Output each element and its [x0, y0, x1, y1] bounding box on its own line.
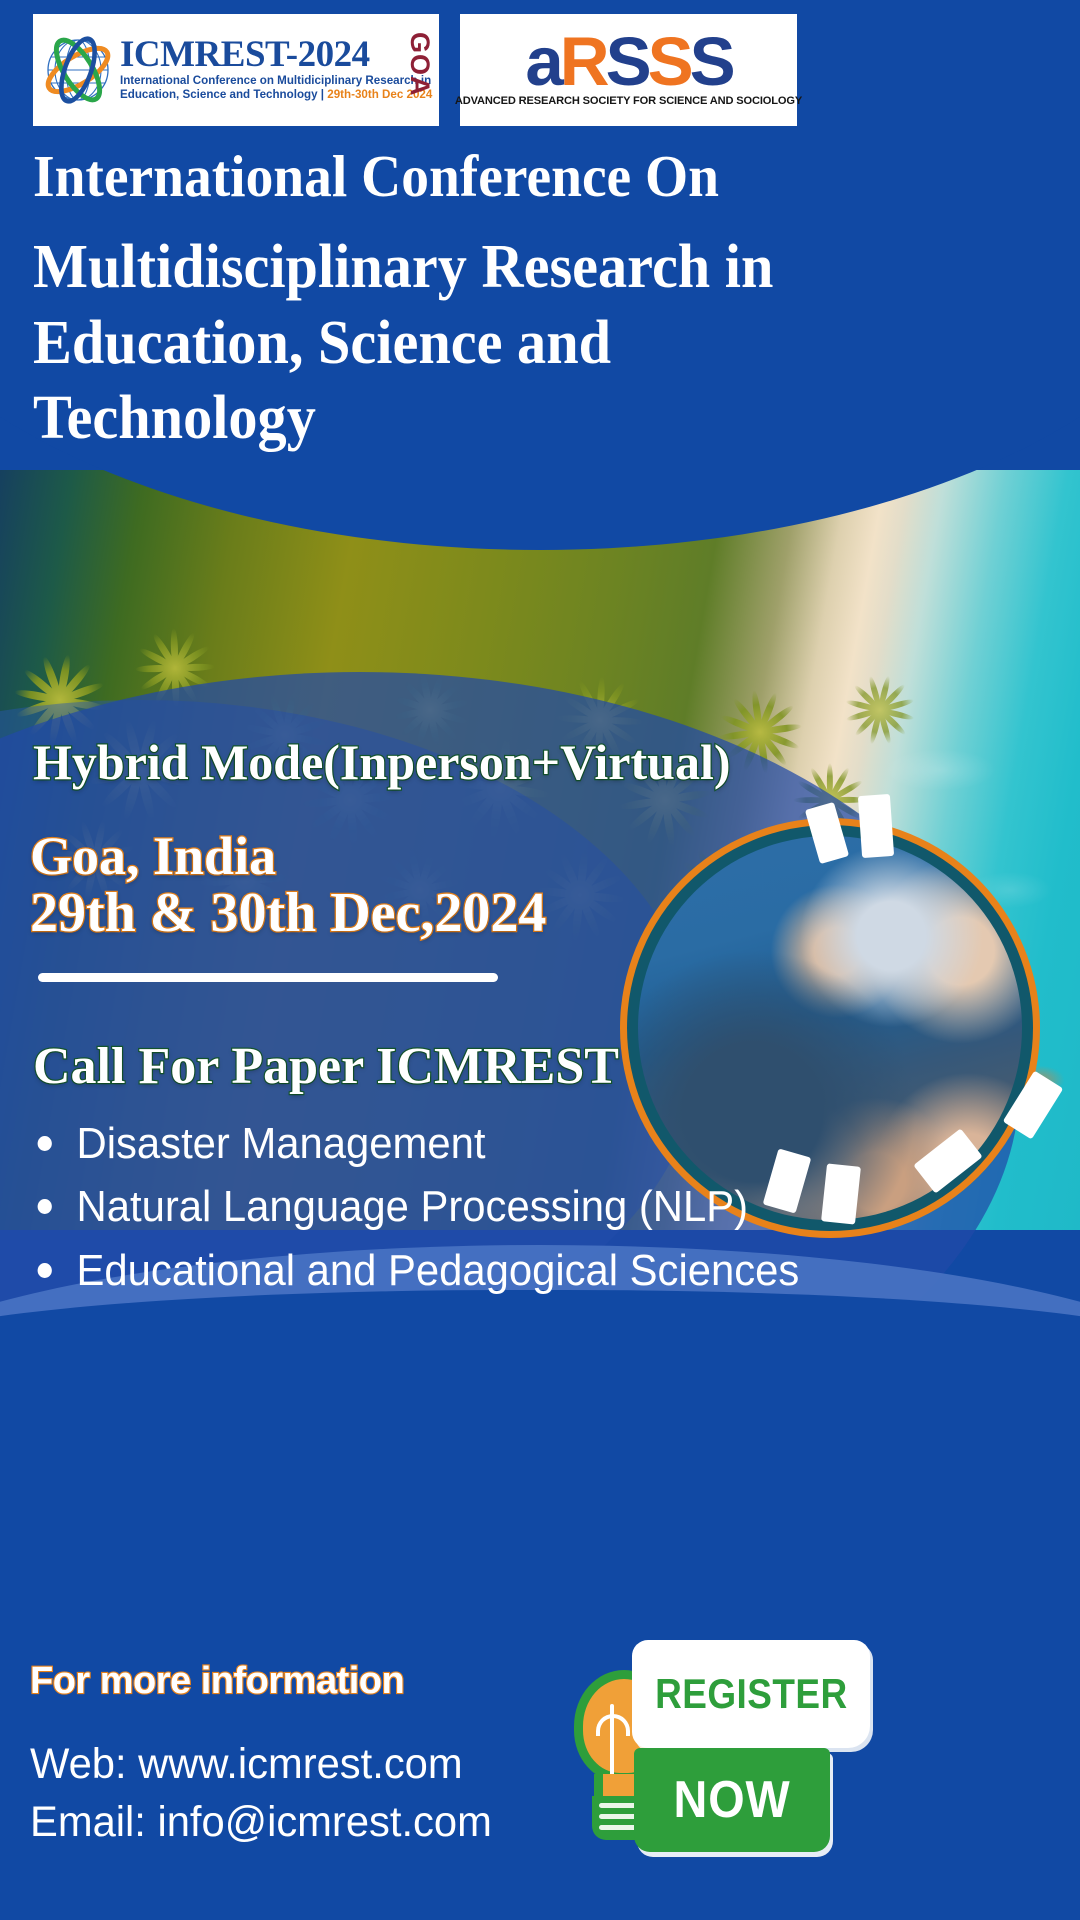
list-item: Educational and Pedagogical Sciences [30, 1239, 847, 1302]
logo-row: ICMREST-2024 International Conference on… [0, 14, 1080, 126]
list-item: Disaster Management [30, 1112, 847, 1175]
now-label: NOW [673, 1770, 790, 1830]
icmrest-subtitle-line2-main: Education, Science and Technology | [120, 88, 327, 101]
bullet-icon [38, 1263, 52, 1278]
event-mode-text: Hybrid Mode(Inperson+Virtual) [33, 735, 731, 790]
register-now-badge[interactable]: REGISTER NOW [570, 1640, 870, 1860]
call-for-paper-heading: Call For Paper ICMREST [33, 1038, 619, 1095]
topic-label: Educational and Pedagogical Sciences [77, 1239, 847, 1302]
icmrest-logo: ICMREST-2024 International Conference on… [33, 14, 439, 126]
icmrest-goa-tag: GOA [406, 32, 433, 97]
now-label-box[interactable]: NOW [634, 1748, 830, 1852]
topic-list: Disaster Management Natural Language Pro… [30, 1112, 890, 1302]
photo-tick-mark [858, 794, 894, 858]
arsss-letter-s2: S [648, 23, 690, 100]
conference-poster: ICMREST-2024 International Conference on… [0, 0, 1080, 1920]
bullet-icon [38, 1136, 52, 1151]
contact-details: Web: www.icmrest.com Email: info@icmrest… [30, 1736, 492, 1851]
icmrest-subtitle-line1: International Conference on Multidicipli… [120, 74, 439, 88]
globe-icon [38, 30, 118, 110]
section-divider [38, 973, 498, 982]
event-dates-text: 29th & 30th Dec,2024 [30, 880, 546, 946]
arsss-tagline: ADVANCED RESEARCH SOCIETY FOR SCIENCE AN… [455, 95, 802, 107]
bullet-icon [38, 1199, 52, 1214]
title-line-2: Multidisciplinary Research in Education,… [33, 230, 879, 457]
contact-heading: For more information [30, 1660, 404, 1703]
arsss-letter-r: R [560, 23, 606, 100]
register-label-bubble[interactable]: REGISTER [632, 1640, 870, 1748]
arsss-logo: aRSSS ADVANCED RESEARCH SOCIETY FOR SCIE… [460, 14, 797, 126]
topic-label: Natural Language Processing (NLP) [77, 1175, 847, 1238]
icmrest-title: ICMREST-2024 [120, 37, 439, 73]
arsss-letter-s3: S [690, 23, 732, 100]
title-line-1: International Conference On [33, 146, 973, 208]
icmrest-subtitle-line2: Education, Science and Technology | 29th… [120, 88, 439, 102]
topic-label: Disaster Management [77, 1112, 847, 1175]
register-label: REGISTER [655, 1670, 847, 1718]
arsss-letter-s1: S [606, 23, 648, 100]
list-item: Natural Language Processing (NLP) [30, 1175, 847, 1238]
arsss-letter-a: a [525, 23, 559, 100]
contact-web: Web: www.icmrest.com [30, 1736, 492, 1794]
arsss-wordmark: aRSSS [525, 33, 731, 91]
contact-email: Email: info@icmrest.com [30, 1794, 492, 1852]
poster-title-block: International Conference On Multidiscipl… [33, 146, 1033, 457]
